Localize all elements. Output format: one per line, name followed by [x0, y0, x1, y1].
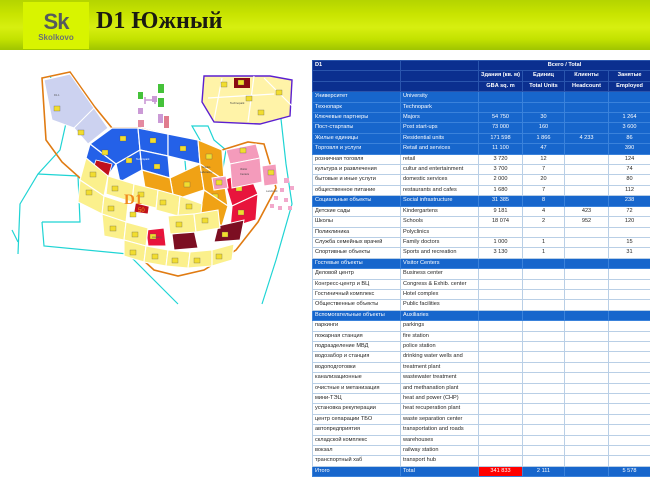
table-corner-label: D1	[313, 61, 401, 71]
logo-wordmark-text: Skolkovo	[38, 33, 74, 42]
table-row: установка рекуперацииheat recuperation p…	[313, 404, 650, 414]
row-employed	[609, 102, 650, 112]
row-units	[523, 373, 565, 383]
row-units	[523, 404, 565, 414]
row-units	[523, 300, 565, 310]
row-label-ru: Пост-стартапы	[313, 123, 401, 133]
row-label-en: domestic services	[401, 175, 479, 185]
row-units	[523, 425, 565, 435]
row-label-en: railway station	[401, 446, 479, 456]
row-headcount	[565, 373, 609, 383]
row-label-ru: водоподготовки	[313, 362, 401, 372]
row-gba	[479, 258, 523, 268]
row-units: 30	[523, 113, 565, 123]
table-row: Спортивные объектыSports and recreation3…	[313, 248, 650, 258]
row-label-en: Congress & Exhib. center	[401, 279, 479, 289]
row-label-ru: культура и развлечения	[313, 165, 401, 175]
hdr-en-blank-2	[401, 81, 479, 91]
table-row: мини-ТЭЦheat and power (CHP)	[313, 394, 650, 404]
table-row: Социальные объектыSocial infrastructure3…	[313, 196, 650, 206]
table-total-row: Итого Total 341 833 2 111 5 578	[313, 466, 650, 476]
row-label-ru: канализационные	[313, 373, 401, 383]
row-units: 4	[523, 206, 565, 216]
row-headcount	[565, 394, 609, 404]
row-label-en: parkings	[401, 321, 479, 331]
row-headcount	[565, 237, 609, 247]
pink-scatter-label: Landmark	[266, 189, 278, 193]
hdr-ru-units: Единиц	[523, 71, 565, 81]
row-units	[523, 279, 565, 289]
row-gba	[479, 227, 523, 237]
row-gba	[479, 321, 523, 331]
row-label-en: Visitor Centers	[401, 258, 479, 268]
table-row: Торговля и услугиRetail and services11 1…	[313, 144, 650, 154]
row-label-en: Hotel complex	[401, 289, 479, 299]
table-row: пожарная станцияfire station	[313, 331, 650, 341]
row-gba: 54 750	[479, 113, 523, 123]
row-label-en: Business center	[401, 269, 479, 279]
row-label-en: heat recuperation plant	[401, 404, 479, 414]
row-employed: 112	[609, 185, 650, 195]
table-row: Жилые единицыResidential units171 5981 8…	[313, 133, 650, 143]
row-gba	[479, 310, 523, 320]
row-employed: 15	[609, 237, 650, 247]
row-label-en: Residential units	[401, 133, 479, 143]
row-label-en: Retail and services	[401, 144, 479, 154]
row-units	[523, 341, 565, 351]
row-label-ru: вокзал	[313, 446, 401, 456]
table-row: подразделение МВДpolice station	[313, 341, 650, 351]
row-headcount	[565, 456, 609, 466]
row-gba	[479, 352, 523, 362]
row-label-en: transportation and roads	[401, 425, 479, 435]
row-label-ru: Вспомогательные объекты	[313, 310, 401, 320]
hdr-en-units: Total Units	[523, 81, 565, 91]
row-employed	[609, 321, 650, 331]
row-employed	[609, 227, 650, 237]
row-gba	[479, 373, 523, 383]
row-label-en: fire station	[401, 331, 479, 341]
row-label-ru: пожарная станция	[313, 331, 401, 341]
row-gba: 3 700	[479, 165, 523, 175]
row-gba	[479, 404, 523, 414]
row-employed: 74	[609, 165, 650, 175]
table-row: Вспомогательные объектыAuxiliaries	[313, 310, 650, 320]
row-label-en: retail	[401, 154, 479, 164]
row-employed	[609, 425, 650, 435]
row-units	[523, 456, 565, 466]
row-units: 20	[523, 175, 565, 185]
table-row: Конгресс-центр и ВЦCongress & Exhib. cen…	[313, 279, 650, 289]
row-gba: 73 000	[479, 123, 523, 133]
table-row: складской комплексwarehouses	[313, 435, 650, 445]
table-row: Гостиничный комплексHotel complex	[313, 289, 650, 299]
masterplan-map: Technopark D1-1	[8, 54, 308, 329]
row-headcount	[565, 92, 609, 102]
row-label-en: Auxiliaries	[401, 310, 479, 320]
table-row: центр сепарации ТБОwaste separation cent…	[313, 414, 650, 424]
page-header: Sk Skolkovo D1 Южный	[0, 0, 650, 50]
table-header-row-ru: Здания (кв. м) Единиц Клиенты Занятые	[313, 71, 650, 81]
row-label-en: restaurants and cafes	[401, 185, 479, 195]
row-units: 160	[523, 123, 565, 133]
row-units	[523, 352, 565, 362]
row-employed	[609, 269, 650, 279]
row-gba: 1 680	[479, 185, 523, 195]
row-units	[523, 414, 565, 424]
hdr-ru-headcount: Клиенты	[565, 71, 609, 81]
row-label-ru: Конгресс-центр и ВЦ	[313, 279, 401, 289]
row-headcount	[565, 331, 609, 341]
table-row: культура и развлеченияcultur and enterta…	[313, 165, 650, 175]
row-headcount: 423	[565, 206, 609, 216]
row-label-en: treatment plant	[401, 362, 479, 372]
golden-lab-label2: Laboratory	[200, 170, 213, 174]
nw-cluster-label: D1-1	[54, 93, 60, 97]
row-employed	[609, 404, 650, 414]
hdr-ru-gba: Здания (кв. м)	[479, 71, 523, 81]
row-label-ru: мини-ТЭЦ	[313, 394, 401, 404]
row-headcount	[565, 352, 609, 362]
row-employed	[609, 456, 650, 466]
row-label-ru: складской комплекс	[313, 435, 401, 445]
row-label-en: Technopark	[401, 102, 479, 112]
row-headcount	[565, 154, 609, 164]
row-label-en: Schools	[401, 217, 479, 227]
row-gba	[479, 331, 523, 341]
table-row: общественное питаниеrestaurants and cafe…	[313, 185, 650, 195]
table-row: Гостевые объектыVisitor Centers	[313, 258, 650, 268]
row-label-en: Post start-ups	[401, 123, 479, 133]
row-label-en: warehouses	[401, 435, 479, 445]
row-headcount: 952	[565, 217, 609, 227]
row-units	[523, 321, 565, 331]
visitor-label: Visitor	[240, 167, 247, 171]
row-headcount	[565, 300, 609, 310]
row-headcount	[565, 196, 609, 206]
row-gba	[479, 435, 523, 445]
table-group-header: Всего / Total	[479, 61, 650, 71]
row-units	[523, 383, 565, 393]
row-units	[523, 289, 565, 299]
page-title: D1 Южный	[96, 8, 222, 35]
row-gba	[479, 269, 523, 279]
row-employed: 238	[609, 196, 650, 206]
row-gba	[479, 456, 523, 466]
table-head: D1 Всего / Total Здания (кв. м) Единиц К…	[313, 61, 650, 92]
golden-lab-label: Golden	[202, 165, 211, 169]
row-headcount	[565, 269, 609, 279]
row-units	[523, 227, 565, 237]
row-headcount	[565, 310, 609, 320]
row-gba: 2 000	[479, 175, 523, 185]
row-label-ru: Служба семейных врачей	[313, 237, 401, 247]
row-gba	[479, 341, 523, 351]
row-label-ru: Школы	[313, 217, 401, 227]
row-employed	[609, 435, 650, 445]
hdr-en-gba: GBA sq. m	[479, 81, 523, 91]
row-headcount	[565, 165, 609, 175]
table-row: розничная тоговляretail3 72012124	[313, 154, 650, 164]
table-row: паркингиparkings	[313, 321, 650, 331]
row-gba	[479, 425, 523, 435]
row-gba: 31 385	[479, 196, 523, 206]
row-employed	[609, 352, 650, 362]
table-row: транспортный хабtransport hub	[313, 456, 650, 466]
row-units	[523, 310, 565, 320]
row-label-en: Family doctors	[401, 237, 479, 247]
row-headcount	[565, 404, 609, 414]
table-foot: Итого Total 341 833 2 111 5 578	[313, 466, 650, 476]
total-label-ru: Итого	[313, 466, 401, 476]
row-gba	[479, 102, 523, 112]
row-gba	[479, 289, 523, 299]
row-employed	[609, 310, 650, 320]
row-label-ru: Гостевые объекты	[313, 258, 401, 268]
row-employed: 390	[609, 144, 650, 154]
row-label-ru: Детские сады	[313, 206, 401, 216]
housing-label: Housing	[152, 235, 162, 239]
row-label-ru: Технопарк	[313, 102, 401, 112]
total-employed: 5 578	[609, 466, 650, 476]
row-units	[523, 102, 565, 112]
row-units	[523, 362, 565, 372]
logo-mark-text: Sk	[44, 12, 69, 32]
row-gba	[479, 446, 523, 456]
row-employed: 120	[609, 217, 650, 227]
row-gba: 171 598	[479, 133, 523, 143]
table-row: вокзалrailway station	[313, 446, 650, 456]
row-units	[523, 269, 565, 279]
row-headcount	[565, 362, 609, 372]
table-row: УниверситетUniversity	[313, 92, 650, 102]
row-label-ru: транспортный хаб	[313, 456, 401, 466]
row-employed	[609, 414, 650, 424]
row-units: 7	[523, 165, 565, 175]
row-label-ru: установка рекуперации	[313, 404, 401, 414]
row-employed	[609, 289, 650, 299]
row-label-ru: Ключевые партнеры	[313, 113, 401, 123]
total-headcount	[565, 466, 609, 476]
row-units	[523, 258, 565, 268]
technopark-label: Technopark	[136, 157, 150, 161]
skolkovo-logo: Sk Skolkovo	[23, 2, 89, 49]
table-row: водоподготовкиtreatment plant	[313, 362, 650, 372]
row-headcount	[565, 185, 609, 195]
row-employed	[609, 92, 650, 102]
row-label-en: police station	[401, 341, 479, 351]
row-label-ru: Гостиничный комплекс	[313, 289, 401, 299]
row-headcount	[565, 113, 609, 123]
row-headcount	[565, 341, 609, 351]
row-gba: 18 074	[479, 217, 523, 227]
row-label-en: cultur and entertainment	[401, 165, 479, 175]
table-row: очистные и метанизацияand methanation pl…	[313, 383, 650, 393]
row-employed: 1 264	[609, 113, 650, 123]
row-employed: 86	[609, 133, 650, 143]
table-header-row-en: GBA sq. m Total Units Headcount Employed	[313, 81, 650, 91]
row-headcount	[565, 102, 609, 112]
row-headcount	[565, 446, 609, 456]
row-headcount	[565, 425, 609, 435]
row-label-ru: Университет	[313, 92, 401, 102]
table-header-row-title: D1 Всего / Total	[313, 61, 650, 71]
row-units: 47	[523, 144, 565, 154]
row-label-ru: подразделение МВД	[313, 341, 401, 351]
row-units	[523, 92, 565, 102]
row-employed: 80	[609, 175, 650, 185]
row-label-en: transport hub	[401, 456, 479, 466]
row-label-en: drinking water wells and	[401, 352, 479, 362]
row-label-ru: Деловой центр	[313, 269, 401, 279]
summary-table-wrapper: D1 Всего / Total Здания (кв. м) Единиц К…	[312, 60, 650, 477]
row-label-en: Kindergartens	[401, 206, 479, 216]
row-employed	[609, 341, 650, 351]
hdr-en-blank-1	[313, 81, 401, 91]
row-label-ru: Жилые единицы	[313, 133, 401, 143]
row-units: 1	[523, 248, 565, 258]
row-label-en: Majors	[401, 113, 479, 123]
row-units	[523, 435, 565, 445]
row-label-ru: бытовые и иные услуги	[313, 175, 401, 185]
row-units: 1	[523, 237, 565, 247]
row-headcount	[565, 435, 609, 445]
table-row: Ключевые партнерыMajors54 750301 264	[313, 113, 650, 123]
row-gba: 3 720	[479, 154, 523, 164]
row-headcount	[565, 227, 609, 237]
table-row: ШколыSchools18 0742952120	[313, 217, 650, 227]
hdr-en-employed: Employed	[609, 81, 650, 91]
row-gba	[479, 383, 523, 393]
row-label-ru: автопредприятия	[313, 425, 401, 435]
row-gba	[479, 92, 523, 102]
row-units	[523, 446, 565, 456]
row-label-en: Social infrastructure	[401, 196, 479, 206]
row-units	[523, 394, 565, 404]
row-label-ru: паркинги	[313, 321, 401, 331]
row-employed: 31	[609, 248, 650, 258]
row-gba	[479, 362, 523, 372]
row-label-en: Sports and recreation	[401, 248, 479, 258]
table-row: Пост-стартапыPost start-ups73 0001603 60…	[313, 123, 650, 133]
row-gba: 1 000	[479, 237, 523, 247]
row-label-en: Public facilities	[401, 300, 479, 310]
row-label-en: waste separation center	[401, 414, 479, 424]
row-label-ru: очистные и метанизация	[313, 383, 401, 393]
row-units: 12	[523, 154, 565, 164]
row-employed	[609, 300, 650, 310]
row-employed: 3 600	[609, 123, 650, 133]
row-label-en: Polyclinics	[401, 227, 479, 237]
total-gba: 341 833	[479, 466, 523, 476]
row-headcount	[565, 123, 609, 133]
row-employed	[609, 446, 650, 456]
hdr-ru-employed: Занятые	[609, 71, 650, 81]
row-headcount	[565, 258, 609, 268]
table-body: УниверситетUniversityТехнопаркTechnopark…	[313, 92, 650, 467]
row-label-ru: водозабор и станция	[313, 352, 401, 362]
row-gba	[479, 414, 523, 424]
row-employed: 124	[609, 154, 650, 164]
row-gba	[479, 279, 523, 289]
row-label-ru: розничная тоговля	[313, 154, 401, 164]
table-row: ПоликлиникаPolyclinics	[313, 227, 650, 237]
hdr-ru-blank-2	[401, 71, 479, 81]
row-label-en: wastewater treatment	[401, 373, 479, 383]
hdr-en-headcount: Headcount	[565, 81, 609, 91]
row-employed: 72	[609, 206, 650, 216]
summary-table: D1 Всего / Total Здания (кв. м) Единиц К…	[312, 60, 650, 477]
row-employed	[609, 373, 650, 383]
row-headcount	[565, 289, 609, 299]
row-gba	[479, 394, 523, 404]
row-employed	[609, 394, 650, 404]
legend-confetti	[138, 84, 169, 128]
table-row: канализационныеwastewater treatment	[313, 373, 650, 383]
table-row: Деловой центрBusiness center	[313, 269, 650, 279]
row-gba: 9 181	[479, 206, 523, 216]
row-employed	[609, 383, 650, 393]
row-label-ru: центр сепарации ТБО	[313, 414, 401, 424]
row-employed	[609, 258, 650, 268]
row-label-en: University	[401, 92, 479, 102]
row-headcount	[565, 383, 609, 393]
row-headcount	[565, 279, 609, 289]
row-gba	[479, 300, 523, 310]
row-units: 1 866	[523, 133, 565, 143]
row-employed	[609, 331, 650, 341]
row-label-ru: Торговля и услуги	[313, 144, 401, 154]
row-label-en: heat and power (CHP)	[401, 394, 479, 404]
row-label-ru: Социальные объекты	[313, 196, 401, 206]
masterplan-svg: Technopark D1-1	[8, 54, 308, 329]
row-label-ru: Поликлиника	[313, 227, 401, 237]
row-label-ru: Общественные объекты	[313, 300, 401, 310]
row-gba: 3 130	[479, 248, 523, 258]
table-row: Детские садыKindergartens9 181442372	[313, 206, 650, 216]
row-units	[523, 331, 565, 341]
row-label-ru: Спортивные объекты	[313, 248, 401, 258]
table-row: Общественные объектыPublic facilities	[313, 300, 650, 310]
row-label-en: and methanation plant	[401, 383, 479, 393]
row-gba: 11 100	[479, 144, 523, 154]
row-units: 7	[523, 185, 565, 195]
total-label-en: Total	[401, 466, 479, 476]
table-row: ТехнопаркTechnopark	[313, 102, 650, 112]
row-units: 2	[523, 217, 565, 227]
row-headcount	[565, 248, 609, 258]
table-row: автопредприятияtransportation and roads	[313, 425, 650, 435]
row-employed	[609, 279, 650, 289]
table-row: Служба семейных врачейFamily doctors1 00…	[313, 237, 650, 247]
row-units: 8	[523, 196, 565, 206]
table-row: водозабор и станцияdrinking water wells …	[313, 352, 650, 362]
row-headcount	[565, 414, 609, 424]
map-district-label: D1	[124, 192, 142, 208]
row-employed	[609, 362, 650, 372]
row-headcount	[565, 144, 609, 154]
table-corner-blank	[401, 61, 479, 71]
map-sub-label: 50	[138, 208, 145, 214]
hdr-ru-blank-1	[313, 71, 401, 81]
row-headcount	[565, 321, 609, 331]
visitor-label2: Centers	[240, 172, 250, 176]
row-headcount: 4 233	[565, 133, 609, 143]
total-units: 2 111	[523, 466, 565, 476]
table-row: бытовые и иные услугиdomestic services2 …	[313, 175, 650, 185]
row-label-ru: общественное питание	[313, 185, 401, 195]
ne-cluster-label: Technopark	[230, 101, 245, 105]
